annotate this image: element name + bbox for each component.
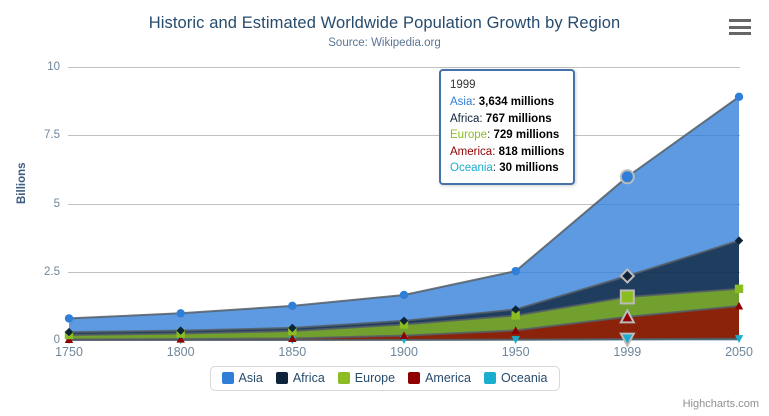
tooltip-series-value: 818 millions <box>499 146 565 158</box>
credit-label: Highcharts.com <box>683 398 759 410</box>
legend-swatch-africa <box>276 372 288 384</box>
legend-label: Asia <box>239 371 263 385</box>
marker-europe-2050[interactable] <box>735 285 743 293</box>
x-tick-label: 1950 <box>502 345 530 359</box>
marker-asia-2050[interactable] <box>735 93 743 101</box>
legend-swatch-america <box>408 372 420 384</box>
plot-area <box>68 67 740 340</box>
legend-item-asia[interactable]: Asia <box>222 371 263 385</box>
marker-asia-1999[interactable] <box>621 170 634 183</box>
legend-label: Oceania <box>501 371 548 385</box>
tooltip-series-name: Europe <box>450 129 487 141</box>
x-tick-label: 1850 <box>278 345 306 359</box>
tooltip-row-africa: Africa: 767 millions <box>450 111 564 127</box>
tooltip-series-value: 3,634 millions <box>479 96 554 108</box>
legend-label: Africa <box>293 371 325 385</box>
legend-item-america[interactable]: America <box>408 371 471 385</box>
tooltip-series-name: Oceania <box>450 162 493 174</box>
tooltip-header: 1999 <box>450 77 564 94</box>
legend-item-africa[interactable]: Africa <box>276 371 325 385</box>
legend-swatch-oceania <box>484 372 496 384</box>
chart-container: Historic and Estimated Worldwide Populat… <box>0 0 769 416</box>
legend-item-europe[interactable]: Europe <box>338 371 395 385</box>
tooltip-series-value: 767 millions <box>486 113 552 125</box>
chart-title: Historic and Estimated Worldwide Populat… <box>0 14 769 33</box>
marker-asia-1750[interactable] <box>65 314 73 322</box>
series-layer <box>68 67 740 340</box>
marker-asia-1850[interactable] <box>288 302 296 310</box>
x-tick-label: 1800 <box>167 345 195 359</box>
y-tick-label: 10 <box>0 61 60 73</box>
tooltip-series-value: 30 millions <box>499 162 558 174</box>
legend[interactable]: AsiaAfricaEuropeAmericaOceania <box>210 366 560 391</box>
tooltip: 1999 Asia: 3,634 millionsAfrica: 767 mil… <box>439 69 575 185</box>
x-tick-label: 2050 <box>725 345 753 359</box>
marker-asia-1900[interactable] <box>400 291 408 299</box>
tooltip-series-name: Asia <box>450 96 472 108</box>
tooltip-row-oceania: Oceania: 30 millions <box>450 160 564 176</box>
tooltip-series-value: 729 millions <box>493 129 559 141</box>
tooltip-series-name: Africa <box>450 113 479 125</box>
x-tick-label: 1900 <box>390 345 418 359</box>
menu-bar-3 <box>729 32 751 35</box>
y-tick-label: 5 <box>0 198 60 210</box>
y-tick-label: 0 <box>0 334 60 346</box>
legend-swatch-asia <box>222 372 234 384</box>
tooltip-series-name: America <box>450 146 492 158</box>
marker-asia-1800[interactable] <box>176 309 184 317</box>
tooltip-row-europe: Europe: 729 millions <box>450 127 564 143</box>
legend-item-oceania[interactable]: Oceania <box>484 371 548 385</box>
legend-swatch-europe <box>338 372 350 384</box>
marker-europe-1999[interactable] <box>621 290 634 303</box>
hamburger-menu-icon[interactable] <box>727 17 753 37</box>
y-tick-label: 2.5 <box>0 266 60 278</box>
chart-subtitle: Source: Wikipedia.org <box>0 37 769 49</box>
marker-asia-1950[interactable] <box>511 267 519 275</box>
x-tick-label: 1750 <box>55 345 83 359</box>
legend-label: America <box>425 371 471 385</box>
menu-bar-2 <box>729 26 751 29</box>
legend-label: Europe <box>355 371 395 385</box>
y-tick-label: 7.5 <box>0 129 60 141</box>
tooltip-row-asia: Asia: 3,634 millions <box>450 94 564 110</box>
menu-bar-1 <box>729 19 751 22</box>
tooltip-rows: Asia: 3,634 millionsAfrica: 767 millions… <box>450 94 564 176</box>
tooltip-row-america: America: 818 millions <box>450 144 564 160</box>
